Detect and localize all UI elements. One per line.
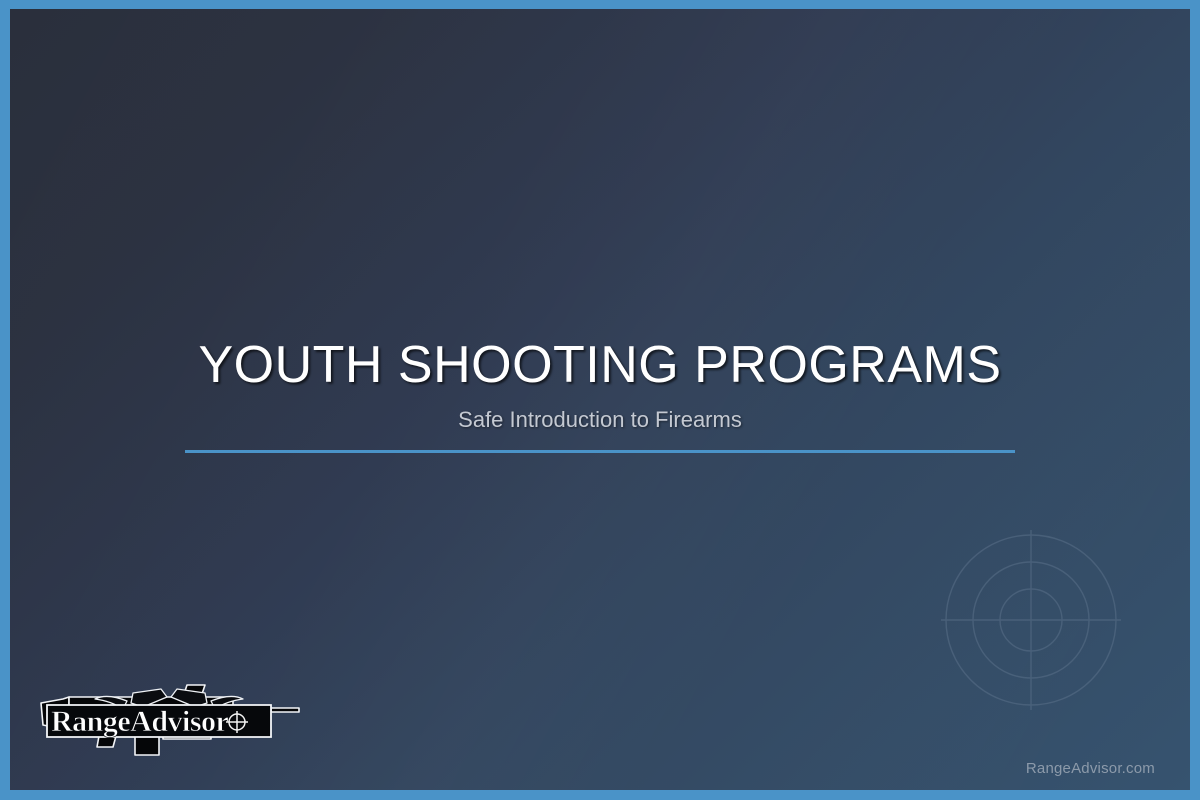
slide-canvas: YOUTH SHOOTING PROGRAMS Safe Introductio…: [10, 9, 1190, 790]
page-title: YOUTH SHOOTING PROGRAMS: [10, 339, 1190, 391]
logo-wordmark: RangeAdvisor: [51, 705, 229, 738]
footer-url: RangeAdvisor.com: [1026, 760, 1155, 777]
presentation-slide: YOUTH SHOOTING PROGRAMS Safe Introductio…: [0, 0, 1200, 800]
title-block: YOUTH SHOOTING PROGRAMS Safe Introductio…: [10, 339, 1190, 431]
page-subtitle: Safe Introduction to Firearms: [10, 409, 1190, 431]
rangeadvisor-logo: RangeAdvisor: [35, 667, 303, 759]
target-crosshair-icon: [931, 520, 1131, 720]
title-divider: [185, 450, 1015, 453]
